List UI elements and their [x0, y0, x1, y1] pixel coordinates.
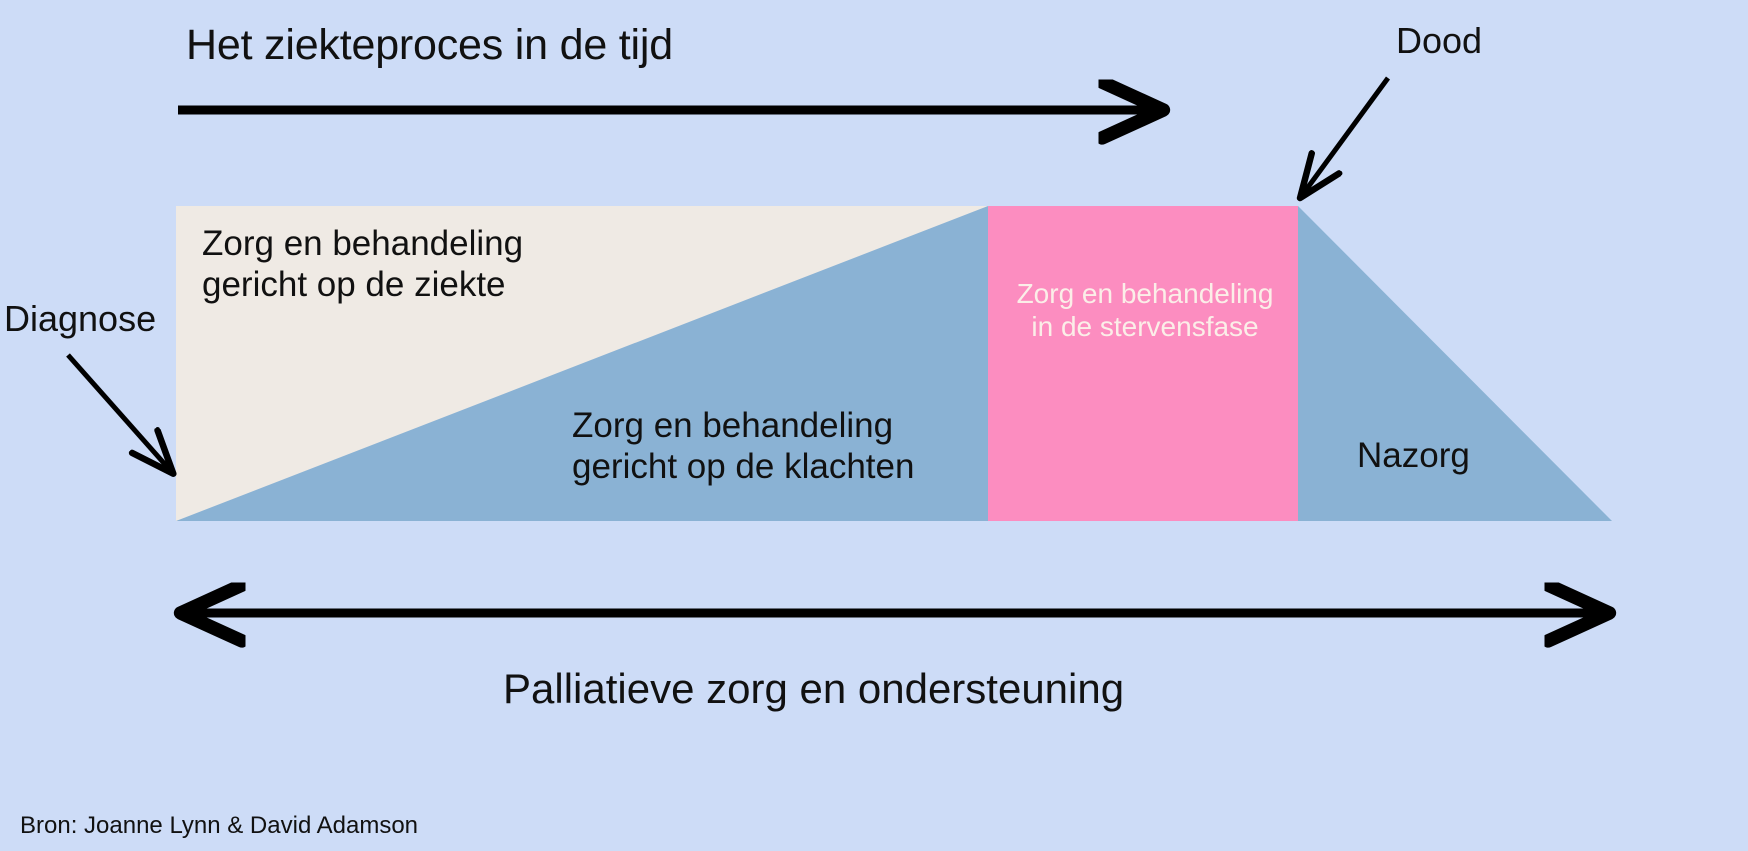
- dying-phase-label: Zorg en behandeling in de stervensfase: [995, 277, 1295, 343]
- aftercare-label: Nazorg: [1357, 435, 1470, 476]
- symptom-care-label: Zorg en behandeling gericht op de klacht…: [572, 405, 914, 488]
- diagnose-arrow: [68, 355, 170, 470]
- palliative-span-label: Palliatieve zorg en ondersteuning: [503, 664, 1124, 714]
- page-title: Het ziekteproces in de tijd: [186, 20, 673, 71]
- disease-care-label: Zorg en behandeling gericht op de ziekte: [202, 223, 523, 306]
- dood-label: Dood: [1396, 20, 1482, 62]
- source-label: Bron: Joanne Lynn & David Adamson: [20, 812, 418, 840]
- dying-phase-region: [988, 206, 1298, 521]
- diagnose-label: Diagnose: [4, 298, 156, 340]
- diagram-canvas: Het ziekteproces in de tijd Diagnose Doo…: [0, 0, 1748, 851]
- dood-arrow: [1303, 78, 1388, 194]
